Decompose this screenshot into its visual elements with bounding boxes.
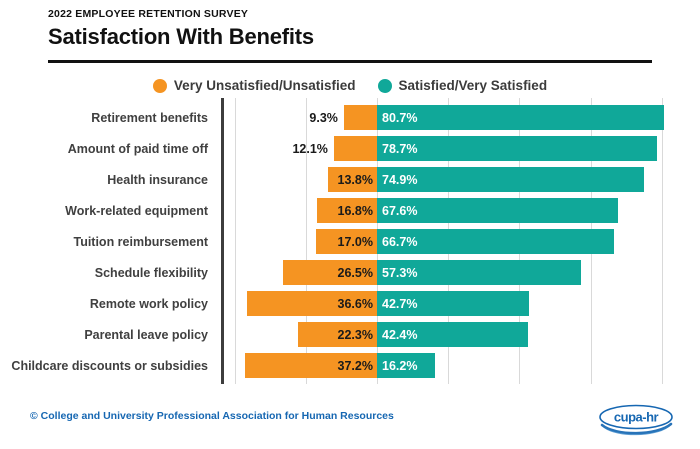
bar-value-label: 36.6% <box>338 297 377 311</box>
category-label: Work-related equipment <box>0 195 208 226</box>
chart-eyebrow: 2022 EMPLOYEE RETENTION SURVEY <box>48 8 248 20</box>
bar-value-label: 66.7% <box>377 235 417 249</box>
chart-row: Parental leave policy22.3%42.4% <box>0 319 700 350</box>
legend-item-negative[interactable]: Very Unsatisfied/Unsatisfied <box>153 78 356 93</box>
bar-negative[interactable]: 37.2% <box>245 353 377 378</box>
bar-value-label: 42.7% <box>377 297 417 311</box>
bar-value-label: 17.0% <box>338 235 377 249</box>
diverging-bar-chart: Retirement benefits9.3%80.7%Amount of pa… <box>0 98 700 386</box>
title-divider <box>48 60 652 63</box>
bar-negative[interactable]: 9.3% <box>344 105 377 130</box>
svg-text:cupa-hr: cupa-hr <box>614 410 659 425</box>
bar-negative[interactable]: 16.8% <box>317 198 377 223</box>
legend-item-positive[interactable]: Satisfied/Very Satisfied <box>378 78 548 93</box>
bar-value-label: 13.8% <box>338 173 377 187</box>
chart-page: 2022 EMPLOYEE RETENTION SURVEY Satisfact… <box>0 0 700 449</box>
bar-value-label: 80.7% <box>377 111 417 125</box>
bar-value-label: 67.6% <box>377 204 417 218</box>
category-label: Tuition reimbursement <box>0 226 208 257</box>
bar-negative[interactable]: 12.1% <box>334 136 377 161</box>
category-label: Parental leave policy <box>0 319 208 350</box>
bar-value-label: 26.5% <box>338 266 377 280</box>
chart-row: Health insurance13.8%74.9% <box>0 164 700 195</box>
bar-positive[interactable]: 80.7% <box>377 105 664 130</box>
bar-value-label: 22.3% <box>338 328 377 342</box>
chart-row: Amount of paid time off12.1%78.7% <box>0 133 700 164</box>
bar-value-label: 12.1% <box>292 142 333 156</box>
bar-value-label: 57.3% <box>377 266 417 280</box>
chart-row: Retirement benefits9.3%80.7% <box>0 102 700 133</box>
category-label: Health insurance <box>0 164 208 195</box>
bar-positive[interactable]: 42.4% <box>377 322 528 347</box>
legend-label-positive: Satisfied/Very Satisfied <box>399 78 548 93</box>
bar-negative[interactable]: 13.8% <box>328 167 377 192</box>
bar-value-label: 37.2% <box>338 359 377 373</box>
bar-positive[interactable]: 74.9% <box>377 167 644 192</box>
bar-positive[interactable]: 57.3% <box>377 260 581 285</box>
category-label: Retirement benefits <box>0 102 208 133</box>
page-title: Satisfaction With Benefits <box>48 24 314 50</box>
bar-positive[interactable]: 67.6% <box>377 198 618 223</box>
circle-marker-orange-icon <box>153 79 167 93</box>
bar-value-label: 78.7% <box>377 142 417 156</box>
cupa-hr-logo-icon: cupa-hr <box>598 402 674 436</box>
category-label: Schedule flexibility <box>0 257 208 288</box>
bar-value-label: 42.4% <box>377 328 417 342</box>
legend-label-negative: Very Unsatisfied/Unsatisfied <box>174 78 356 93</box>
bar-value-label: 16.2% <box>377 359 417 373</box>
chart-row: Tuition reimbursement17.0%66.7% <box>0 226 700 257</box>
chart-row: Work-related equipment16.8%67.6% <box>0 195 700 226</box>
bar-value-label: 9.3% <box>309 111 344 125</box>
bar-negative[interactable]: 26.5% <box>283 260 377 285</box>
chart-row: Remote work policy36.6%42.7% <box>0 288 700 319</box>
chart-rows: Retirement benefits9.3%80.7%Amount of pa… <box>0 98 700 386</box>
circle-marker-teal-icon <box>378 79 392 93</box>
bar-value-label: 74.9% <box>377 173 417 187</box>
bar-negative[interactable]: 22.3% <box>298 322 377 347</box>
bar-positive[interactable]: 16.2% <box>377 353 435 378</box>
footer-copyright: © College and University Professional As… <box>30 410 394 422</box>
bar-positive[interactable]: 66.7% <box>377 229 614 254</box>
chart-legend: Very Unsatisfied/Unsatisfied Satisfied/V… <box>0 78 700 93</box>
chart-row: Schedule flexibility26.5%57.3% <box>0 257 700 288</box>
category-label: Childcare discounts or subsidies <box>0 350 208 381</box>
category-label: Amount of paid time off <box>0 133 208 164</box>
bar-negative[interactable]: 36.6% <box>247 291 377 316</box>
bar-value-label: 16.8% <box>338 204 377 218</box>
category-label: Remote work policy <box>0 288 208 319</box>
bar-positive[interactable]: 42.7% <box>377 291 529 316</box>
bar-negative[interactable]: 17.0% <box>316 229 377 254</box>
bar-positive[interactable]: 78.7% <box>377 136 657 161</box>
chart-row: Childcare discounts or subsidies37.2%16.… <box>0 350 700 381</box>
